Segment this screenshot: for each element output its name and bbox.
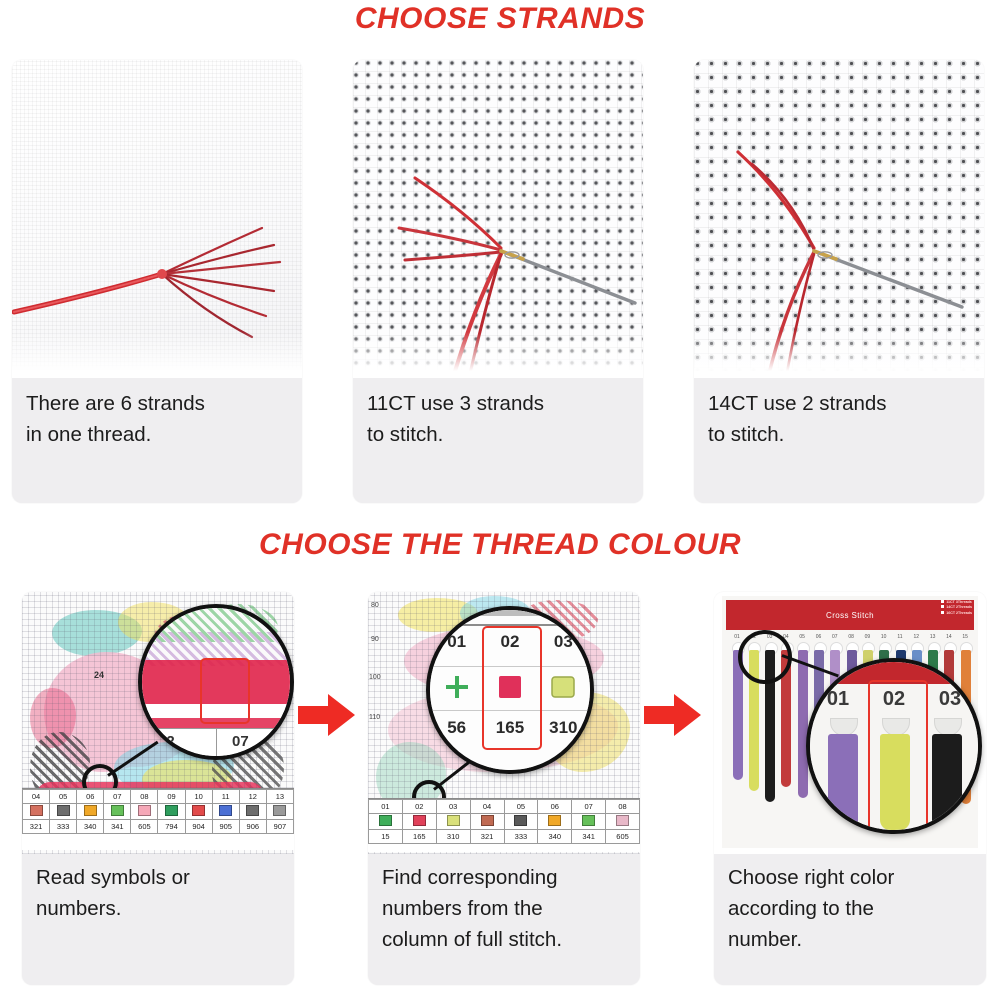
photo-fade — [12, 332, 302, 378]
legend-row-codes: 04050607080910111213 — [23, 790, 294, 804]
legend-symbol — [538, 814, 572, 830]
section-heading-choose-thread-colour: CHOOSE THE THREAD COLOUR — [0, 528, 1000, 562]
photo-six-strands — [12, 60, 302, 378]
photo-fade — [694, 332, 984, 378]
legend-code: 04 — [470, 800, 504, 814]
legend-row-codes: 0102030405060708 — [369, 800, 640, 814]
legend-number: 905 — [212, 820, 239, 834]
peg-number: 06 — [812, 634, 826, 640]
caption-card-4: Read symbols or numbers. — [22, 854, 294, 985]
legend-number: 341 — [572, 830, 606, 844]
legend-code: 06 — [538, 800, 572, 814]
legend-symbol — [131, 804, 158, 820]
peg-number: 15 — [958, 634, 972, 640]
card-11ct: 11CT use 3 strands to stitch. — [353, 60, 643, 503]
section-heading-choose-strands: CHOOSE STRANDS — [0, 2, 1000, 36]
caption-line: 14CT use 2 strands — [708, 388, 970, 419]
legend-swatch — [30, 805, 43, 816]
legend-number: 333 — [504, 830, 538, 844]
card-choose-color: Cross Stitch 11CT 3Threads 14CT 2Threads… — [714, 592, 986, 985]
legend-symbol — [104, 804, 131, 820]
card-find-numbers: 80 90 100 110 01 02 03 — [368, 592, 640, 985]
card-14ct: 14CT use 2 strands to stitch. — [694, 60, 984, 503]
legend-symbol — [572, 814, 606, 830]
legend-symbol — [23, 804, 50, 820]
axis-tick: 110 — [369, 714, 380, 721]
peg-number: 08 — [844, 634, 858, 640]
lens-skein — [932, 734, 962, 830]
right-arrow-icon — [298, 692, 356, 738]
legend-bullet — [941, 611, 944, 614]
legend-swatch — [219, 805, 232, 816]
legend-code: 07 — [104, 790, 131, 804]
legend-symbol — [50, 804, 77, 820]
lens-top-rule — [430, 610, 590, 616]
legend-swatch — [616, 815, 629, 826]
caption-line: number. — [728, 924, 972, 955]
thread-card-title: Cross Stitch — [726, 600, 974, 630]
axis-tick: 90 — [371, 636, 379, 643]
card-strands-overview: There are 6 strands in one thread. — [12, 60, 302, 503]
caption-line: Choose right color — [728, 862, 972, 893]
legend-code: 04 — [23, 790, 50, 804]
needle-and-threads-illustration — [353, 60, 643, 378]
caption-card-3: 14CT use 2 strands to stitch. — [694, 378, 984, 503]
legend-symbol — [369, 814, 403, 830]
lens-legend-strip: 02 07 — [142, 728, 290, 757]
legend-symbol — [470, 814, 504, 830]
axis-tick: 80 — [371, 602, 379, 609]
caption-line: to stitch. — [708, 419, 970, 450]
legend-number: 341 — [104, 820, 131, 834]
legend-swatch — [481, 815, 494, 826]
legend-symbol — [185, 804, 212, 820]
legend-swatch — [413, 815, 426, 826]
legend-entry: 16CT 2Threads — [941, 611, 972, 616]
lens-number: 310 — [537, 718, 590, 738]
peg-number: 14 — [942, 634, 956, 640]
legend-symbol — [436, 814, 470, 830]
legend-number: 906 — [239, 820, 266, 834]
lens-cell-number: 02 — [158, 733, 175, 750]
lens-divider — [216, 729, 217, 757]
infographic-root: CHOOSE STRANDS There ar — [0, 0, 1000, 1000]
legend-table-pattern: 04050607080910111213 3213333403416057949… — [22, 788, 294, 850]
photo-14ct-needle — [694, 60, 984, 378]
lens-code: 03 — [537, 632, 590, 652]
caption-line: There are 6 strands — [26, 388, 288, 419]
legend-symbol — [158, 804, 185, 820]
peg-number: 01 — [730, 634, 744, 640]
legend-code: 01 — [369, 800, 403, 814]
axis-tick: 100 — [369, 674, 381, 681]
legend-symbol — [266, 804, 293, 820]
legend-code: 11 — [212, 790, 239, 804]
caption-line: 11CT use 3 strands — [367, 388, 629, 419]
lens-symbol-square-yellow-green — [537, 672, 590, 707]
peg-number: 07 — [828, 634, 842, 640]
thread-card-legend: 11CT 3Threads 14CT 2Threads 16CT 2Thread… — [941, 600, 972, 616]
lens-symbol-plus — [430, 672, 483, 707]
legend-number: 605 — [131, 820, 158, 834]
legend-grid: 04050607080910111213 3213333403416057949… — [22, 789, 294, 834]
legend-number: 794 — [158, 820, 185, 834]
legend-code: 07 — [572, 800, 606, 814]
legend-row-symbols — [369, 814, 640, 830]
photo-11ct-needle — [353, 60, 643, 378]
lens-highlight-box — [200, 658, 250, 724]
caption-line: to stitch. — [367, 419, 629, 450]
legend-row-numbers: 321333340341605794904905906907 — [23, 820, 294, 834]
photo-fade — [353, 332, 643, 378]
legend-number: 15 — [369, 830, 403, 844]
legend-number: 340 — [77, 820, 104, 834]
caption-card-2: 11CT use 3 strands to stitch. — [353, 378, 643, 503]
legend-swatch — [57, 805, 70, 816]
thread-skein — [798, 650, 808, 798]
needle-and-threads-illustration — [694, 60, 984, 378]
legend-code: 08 — [606, 800, 640, 814]
caption-card-5: Find corresponding numbers from the colu… — [368, 854, 640, 985]
legend-grid: 0102030405060708 15165310321333340341605 — [368, 799, 640, 844]
peg-number: 10 — [877, 634, 891, 640]
lens-highlight-box — [868, 680, 928, 834]
legend-code: 08 — [131, 790, 158, 804]
legend-number: 321 — [470, 830, 504, 844]
magnifier-lens-pattern: 02 07 — [138, 604, 294, 760]
legend-number: 321 — [23, 820, 50, 834]
legend-swatch — [514, 815, 527, 826]
legend-code: 10 — [185, 790, 212, 804]
legend-text: 14CT 2Threads — [946, 605, 972, 609]
legend-number: 907 — [266, 820, 293, 834]
lens-skein — [828, 734, 858, 830]
legend-symbol — [239, 804, 266, 820]
photo-legend-chart: 80 90 100 110 01 02 03 — [368, 592, 640, 854]
legend-code: 12 — [239, 790, 266, 804]
legend-swatch — [246, 805, 259, 816]
legend-code: 13 — [266, 790, 293, 804]
lens-number: 56 — [430, 718, 483, 738]
magnifier-lens-skeins: 01 02 03 — [806, 658, 982, 834]
legend-swatch — [379, 815, 392, 826]
legend-number: 310 — [436, 830, 470, 844]
thread-strands-illustration — [12, 60, 302, 378]
peg-number: 12 — [909, 634, 923, 640]
legend-swatch — [273, 805, 286, 816]
legend-symbol — [402, 814, 436, 830]
legend-bullet — [941, 600, 944, 603]
lens-code: 01 — [430, 632, 483, 652]
legend-symbol — [212, 804, 239, 820]
legend-code: 06 — [77, 790, 104, 804]
lens-code: 01 — [810, 688, 866, 711]
magnifier-lens-legend: 01 02 03 56 165 — [426, 606, 594, 774]
legend-table-full-stitch: 0102030405060708 15165310321333340341605 — [368, 798, 640, 852]
right-arrow-icon — [644, 692, 702, 738]
legend-row-numbers: 15165310321333340341605 — [369, 830, 640, 844]
caption-line: column of full stitch. — [382, 924, 626, 955]
card-read-symbols: 24 02 07 040506070 — [22, 592, 294, 985]
legend-number: 605 — [606, 830, 640, 844]
caption-card-1: There are 6 strands in one thread. — [12, 378, 302, 503]
legend-text: 16CT 2Threads — [946, 611, 972, 615]
caption-line: numbers from the — [382, 893, 626, 924]
caption-line: numbers. — [36, 893, 280, 924]
legend-symbol — [504, 814, 538, 830]
legend-swatch — [548, 815, 561, 826]
legend-number: 340 — [538, 830, 572, 844]
legend-swatch — [111, 805, 124, 816]
caption-card-6: Choose right color according to the numb… — [714, 854, 986, 985]
legend-code: 02 — [402, 800, 436, 814]
legend-number: 333 — [50, 820, 77, 834]
legend-swatch — [138, 805, 151, 816]
caption-line: Find corresponding — [382, 862, 626, 893]
caption-line: in one thread. — [26, 419, 288, 450]
peg-number: 13 — [926, 634, 940, 640]
legend-swatch — [447, 815, 460, 826]
legend-symbol — [77, 804, 104, 820]
legend-text: 11CT 3Threads — [946, 600, 972, 604]
legend-swatch — [192, 805, 205, 816]
lens-highlight-box — [482, 626, 542, 750]
legend-swatch — [84, 805, 97, 816]
legend-swatch — [165, 805, 178, 816]
lens-cell-number: 07 — [232, 733, 249, 750]
peg-number: 05 — [795, 634, 809, 640]
legend-code: 03 — [436, 800, 470, 814]
peg-number: 11 — [893, 634, 907, 640]
peg-number: 09 — [860, 634, 874, 640]
legend-number: 904 — [185, 820, 212, 834]
legend-symbol — [606, 814, 640, 830]
legend-bullet — [941, 605, 944, 608]
pattern-cell-label: 24 — [94, 670, 104, 680]
legend-code: 05 — [504, 800, 538, 814]
lens-code: 03 — [922, 688, 978, 711]
legend-row-symbols — [23, 804, 294, 820]
photo-thread-card: Cross Stitch 11CT 3Threads 14CT 2Threads… — [714, 592, 986, 854]
caption-line: according to the — [728, 893, 972, 924]
caption-line: Read symbols or — [36, 862, 280, 893]
legend-code: 09 — [158, 790, 185, 804]
photo-pattern-chart: 24 02 07 040506070 — [22, 592, 294, 854]
legend-code: 05 — [50, 790, 77, 804]
legend-number: 165 — [402, 830, 436, 844]
legend-swatch — [582, 815, 595, 826]
